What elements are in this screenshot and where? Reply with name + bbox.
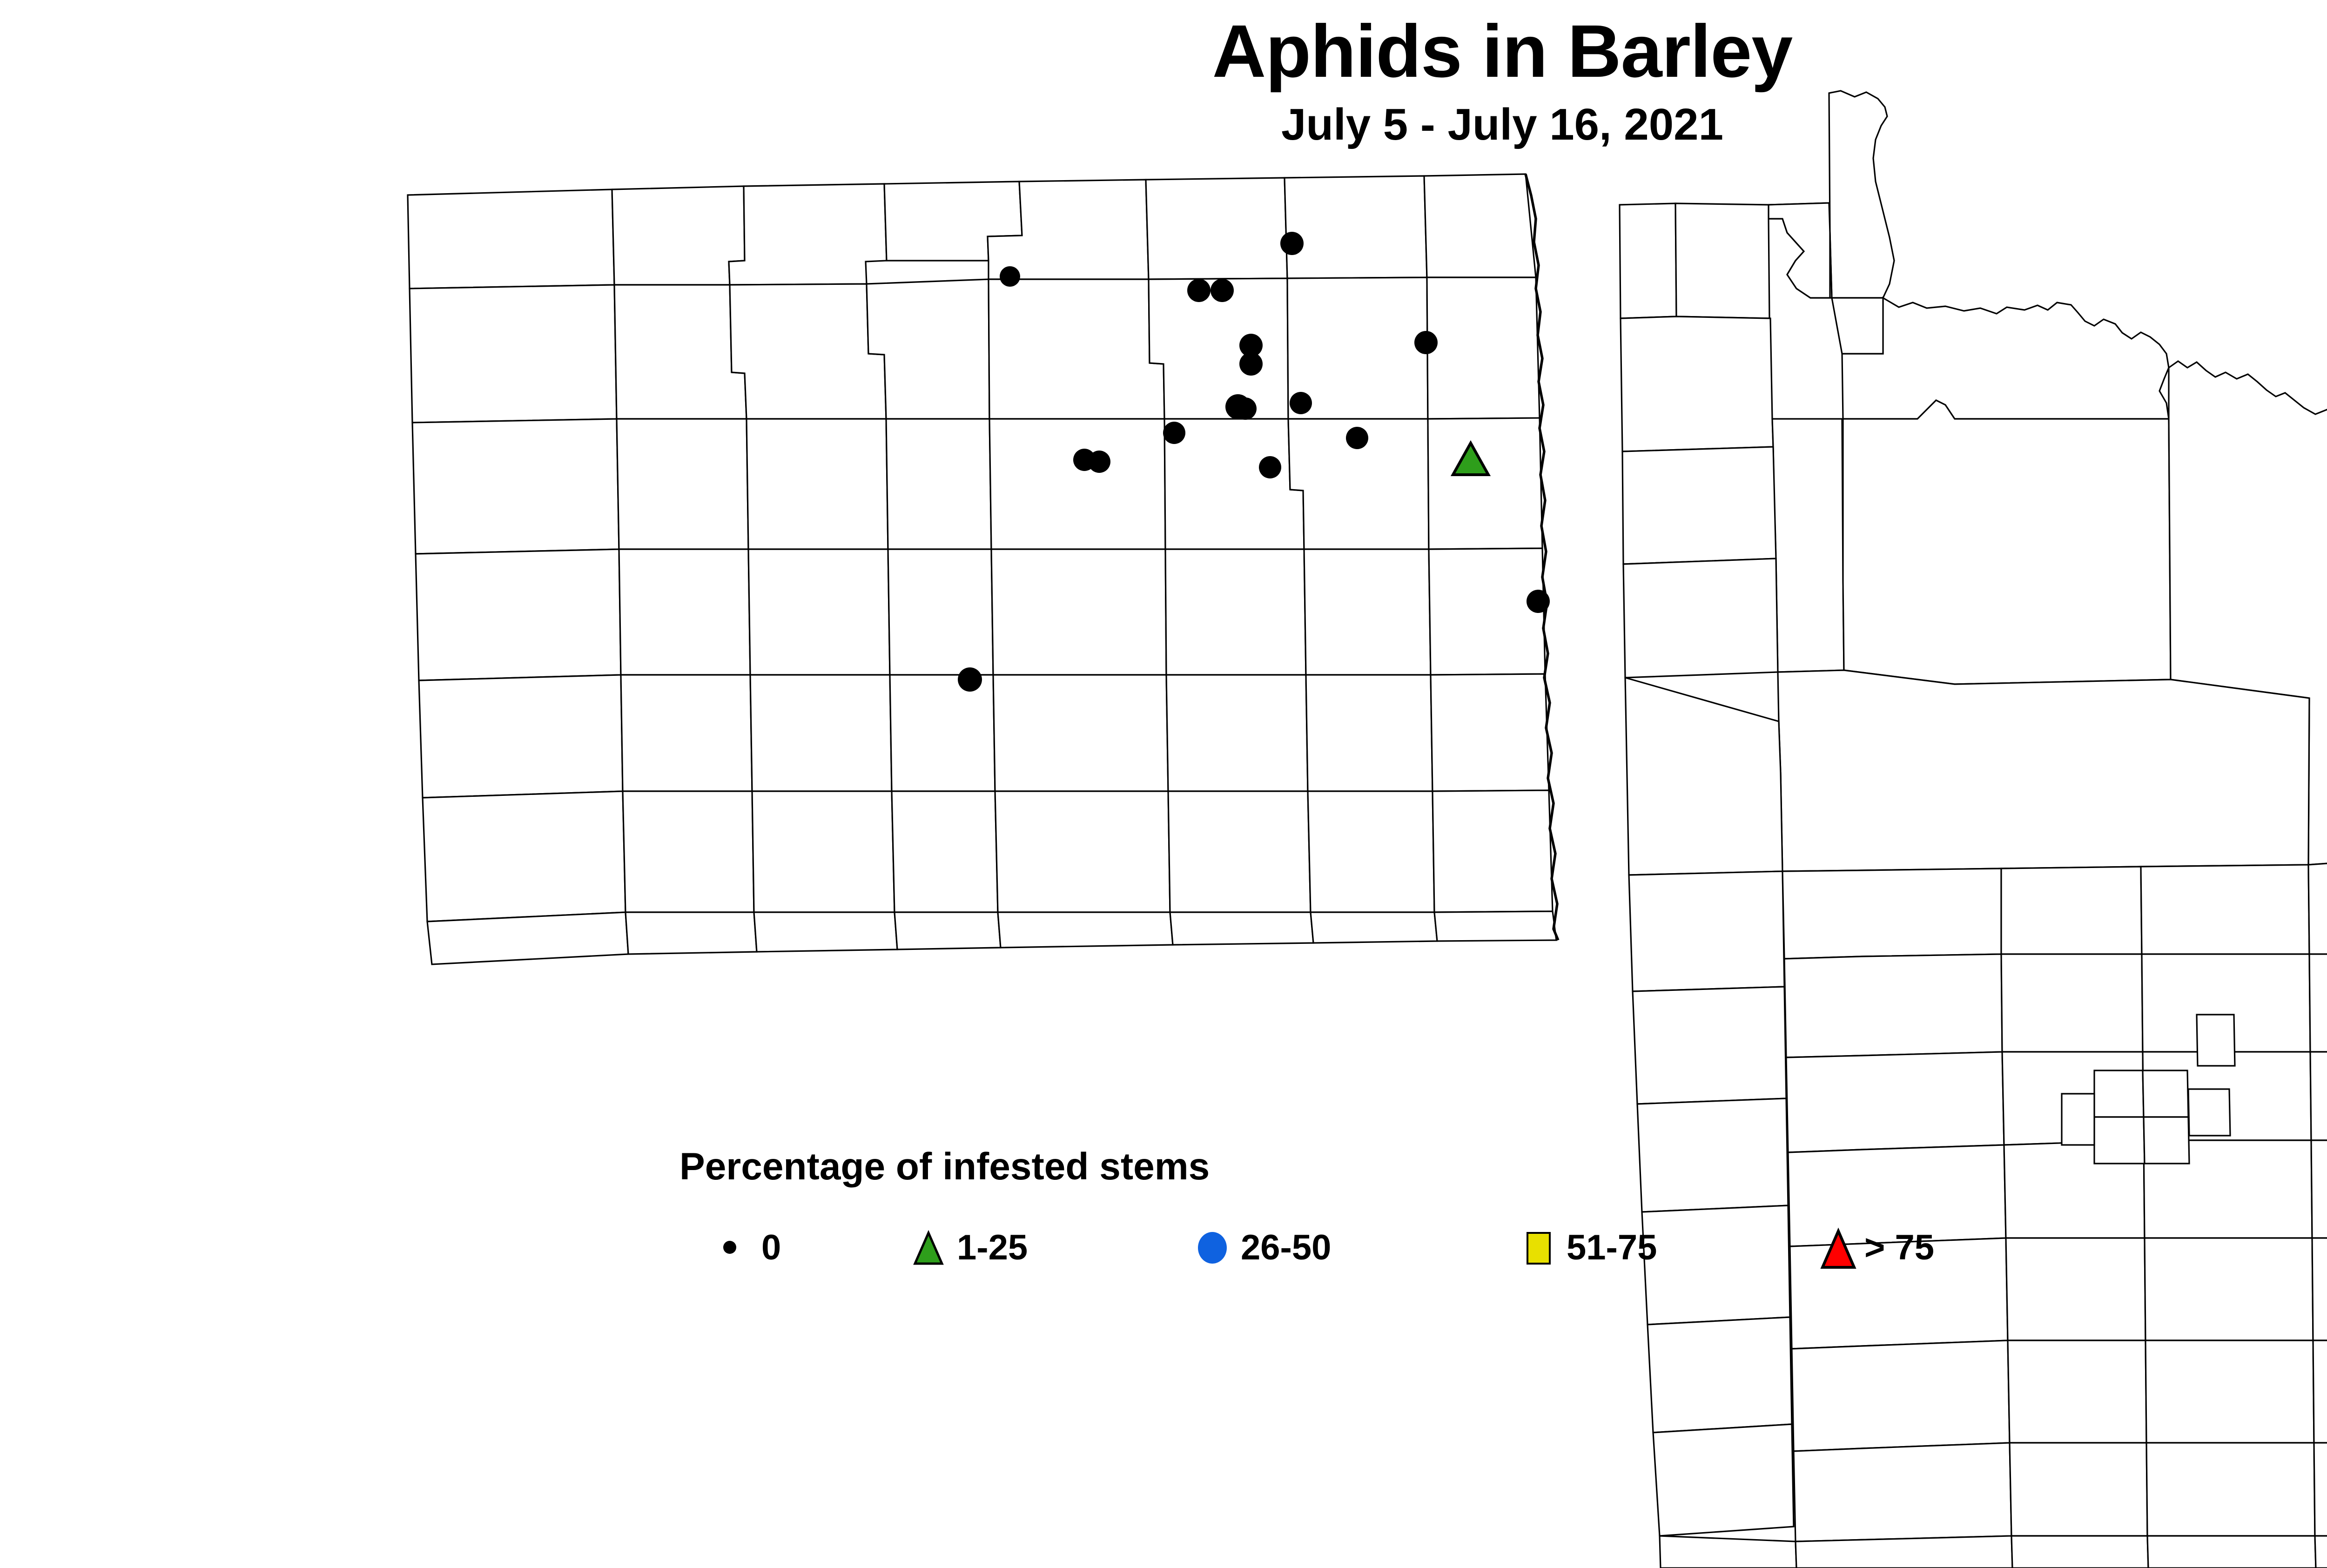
data-point[interactable] <box>1346 427 1368 449</box>
legend-item-3[interactable]: 51-75 <box>1522 1219 1657 1275</box>
data-point[interactable] <box>1414 331 1438 354</box>
county-map[interactable] <box>0 0 2327 1568</box>
data-point[interactable] <box>958 667 982 692</box>
green-triangle-icon <box>912 1226 945 1268</box>
map-page: Aphids in Barley July 5 - July 16, 2021 <box>0 0 2327 1568</box>
legend-item-1[interactable]: 1-25 <box>912 1219 1028 1275</box>
legend-row: 0 1-25 26-50 51-75 <box>363 1219 1759 1275</box>
data-point[interactable] <box>1088 451 1110 473</box>
legend-item-4[interactable]: > 75 <box>1820 1219 1934 1275</box>
legend-label-3: 51-75 <box>1567 1227 1657 1268</box>
legend-label-2: 26-50 <box>1241 1227 1331 1268</box>
data-point[interactable] <box>1527 590 1550 613</box>
blue-circle-icon <box>1196 1226 1229 1268</box>
data-point[interactable] <box>1234 397 1257 420</box>
data-point[interactable] <box>1187 279 1211 302</box>
data-point[interactable] <box>1239 352 1263 376</box>
legend-label-1: 1-25 <box>957 1227 1028 1268</box>
legend-item-0[interactable]: 0 <box>717 1219 781 1275</box>
legend-label-4: > 75 <box>1864 1227 1934 1268</box>
black-dot-icon <box>717 1226 749 1268</box>
red-triangle-icon <box>1820 1226 1852 1268</box>
data-point[interactable] <box>1000 266 1020 287</box>
yellow-square-icon <box>1522 1226 1554 1268</box>
legend-label-0: 0 <box>761 1227 781 1268</box>
legend-title: Percentage of infested stems <box>642 1145 1713 1189</box>
data-point[interactable] <box>1290 392 1312 414</box>
data-point[interactable] <box>1280 232 1304 255</box>
minnesota-counties <box>1620 91 2327 1568</box>
north-dakota-counties <box>408 174 1556 964</box>
legend-item-2[interactable]: 26-50 <box>1196 1219 1331 1275</box>
data-point[interactable] <box>1259 456 1281 478</box>
data-point[interactable] <box>1211 279 1234 302</box>
data-point[interactable] <box>1163 422 1185 444</box>
legend: Percentage of infested stems 0 1-25 <box>642 1145 1713 1189</box>
